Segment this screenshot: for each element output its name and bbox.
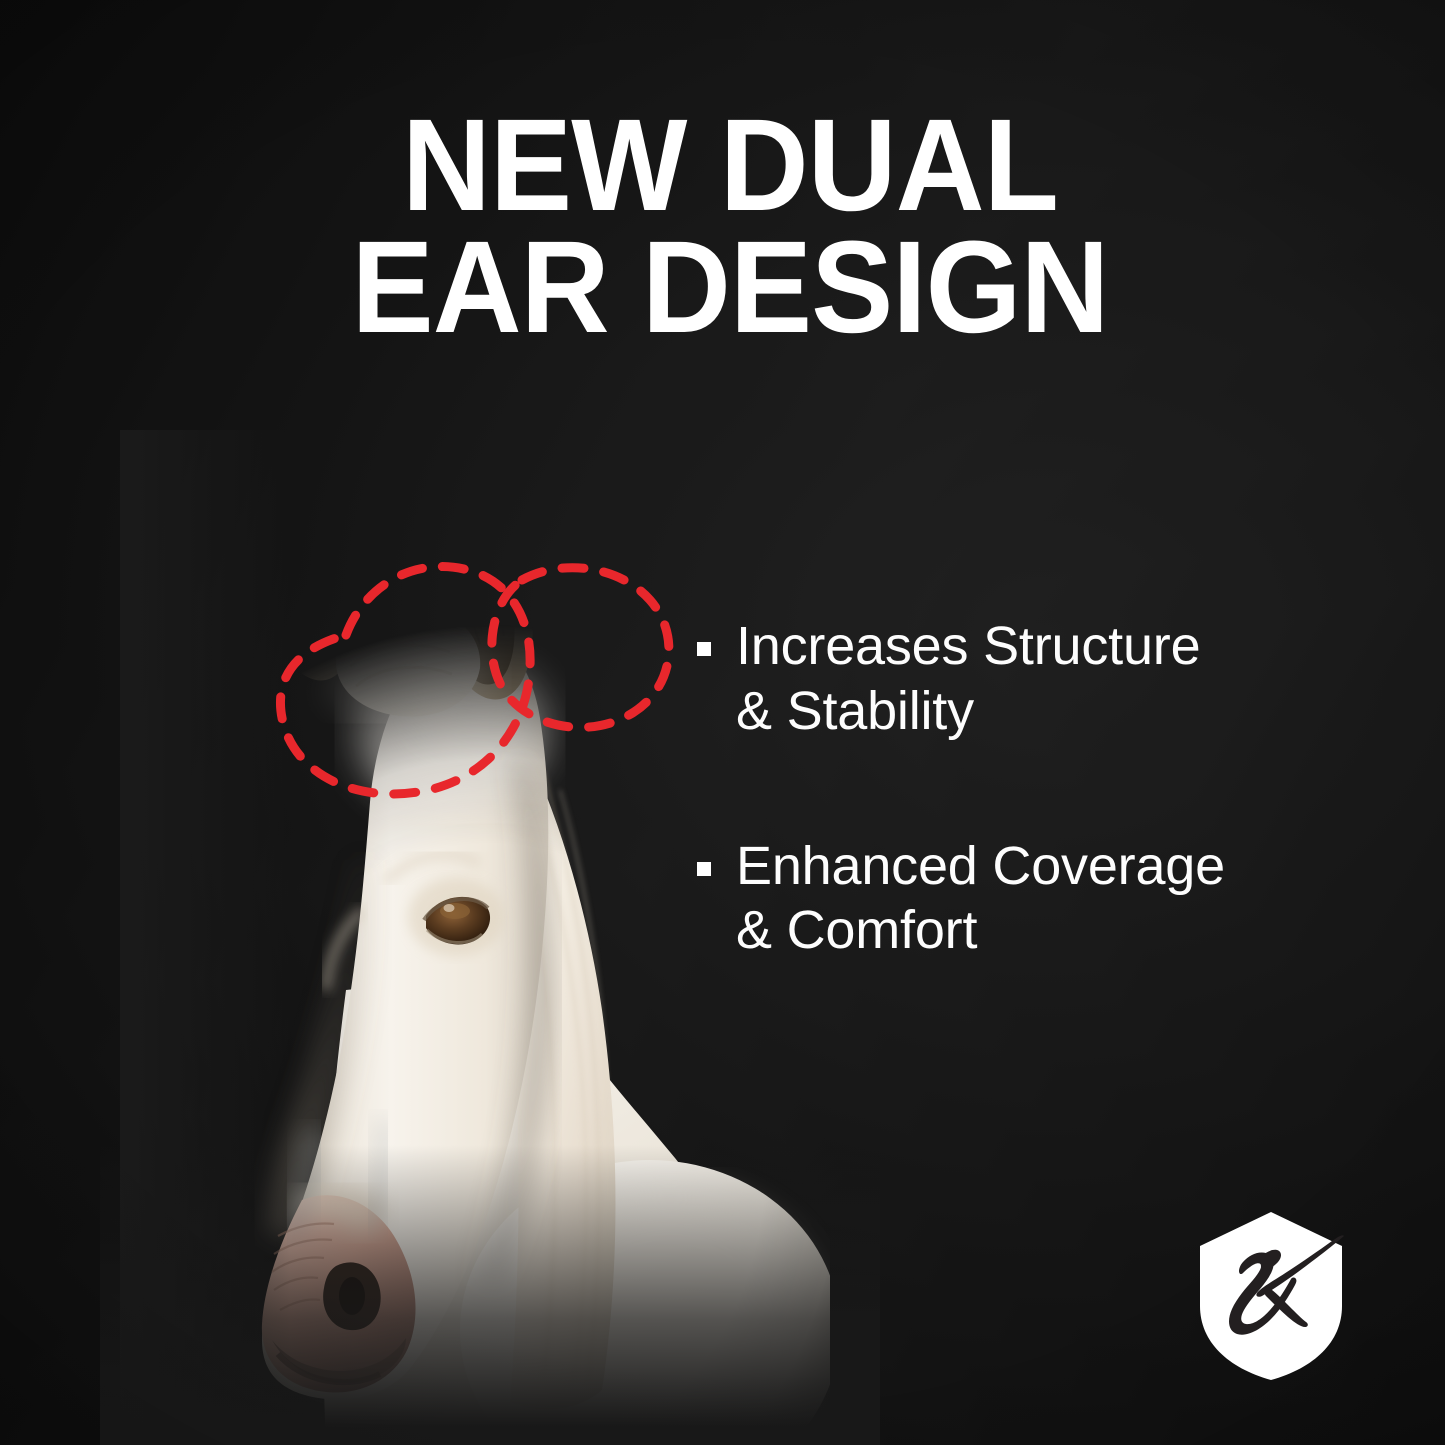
square-bullet-icon [697, 642, 711, 656]
square-bullet-icon [697, 862, 711, 876]
feature-text: Enhanced Coverage & Comfort [736, 834, 1225, 964]
list-item: Enhanced Coverage & Comfort [697, 834, 1387, 964]
page-title: NEW DUAL EAR DESIGN [279, 104, 1181, 348]
headline-line-1: NEW DUAL [279, 104, 1181, 226]
feature-text: Increases Structure & Stability [736, 614, 1200, 744]
brand-logo [1196, 1210, 1346, 1382]
ad-creative: NEW DUAL EAR DESIGN Increases Structure … [0, 0, 1445, 1445]
feature-list: Increases Structure & Stability Enhanced… [697, 614, 1387, 963]
list-item: Increases Structure & Stability [697, 614, 1387, 744]
shield-k-logo-icon [1196, 1210, 1346, 1382]
headline-line-2: EAR DESIGN [279, 226, 1181, 348]
